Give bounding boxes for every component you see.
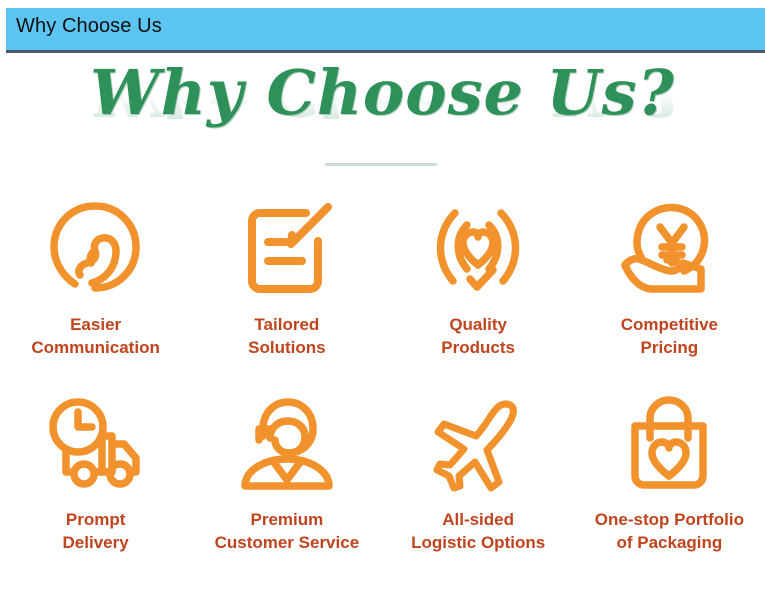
heart-check-signal-icon (429, 196, 527, 302)
feature-label: Competitive Pricing (621, 314, 718, 360)
headset-agent-icon (237, 391, 337, 497)
feature-item-easier-communication[interactable]: Easier Communication (0, 196, 191, 391)
feature-label: One-stop Portfolio of Packaging (595, 509, 744, 555)
feature-label: Prompt Delivery (63, 509, 129, 555)
hero-divider (325, 163, 437, 166)
titlebar-background: Why Choose Us (6, 8, 765, 53)
feature-label: Premium Customer Service (215, 509, 360, 555)
feature-label: Quality Products (441, 314, 515, 360)
hero-section: Why Choose Us? Why Choose Us? (0, 62, 765, 167)
feature-item-prompt-delivery[interactable]: Prompt Delivery (0, 391, 191, 586)
hero-headline: Why Choose Us? Why Choose Us? (90, 62, 675, 124)
hand-yen-coin-icon (619, 196, 719, 302)
document-pencil-icon (240, 196, 334, 302)
ear-listening-icon (50, 196, 142, 302)
airplane-icon (431, 391, 525, 497)
feature-item-tailored-solutions[interactable]: Tailored Solutions (191, 196, 382, 391)
feature-item-premium-customer-service[interactable]: Premium Customer Service (191, 391, 382, 586)
feature-item-quality-products[interactable]: Quality Products (383, 196, 574, 391)
feature-item-all-sided-logistic-options[interactable]: All-sided Logistic Options (383, 391, 574, 586)
feature-label: All-sided Logistic Options (411, 509, 545, 555)
delivery-truck-clock-icon (44, 391, 148, 497)
hero-headline-text: Why Choose Us? (90, 56, 675, 129)
window-titlebar: Why Choose Us (0, 8, 765, 56)
feature-label: Tailored Solutions (248, 314, 325, 360)
feature-item-competitive-pricing[interactable]: Competitive Pricing (574, 196, 765, 391)
feature-grid: Easier Communication Tailored Solutions (0, 196, 765, 586)
feature-item-one-stop-portfolio[interactable]: One-stop Portfolio of Packaging (574, 391, 765, 586)
window-title: Why Choose Us (16, 15, 162, 38)
shopping-bag-heart-icon (621, 391, 717, 497)
feature-label: Easier Communication (31, 314, 159, 360)
